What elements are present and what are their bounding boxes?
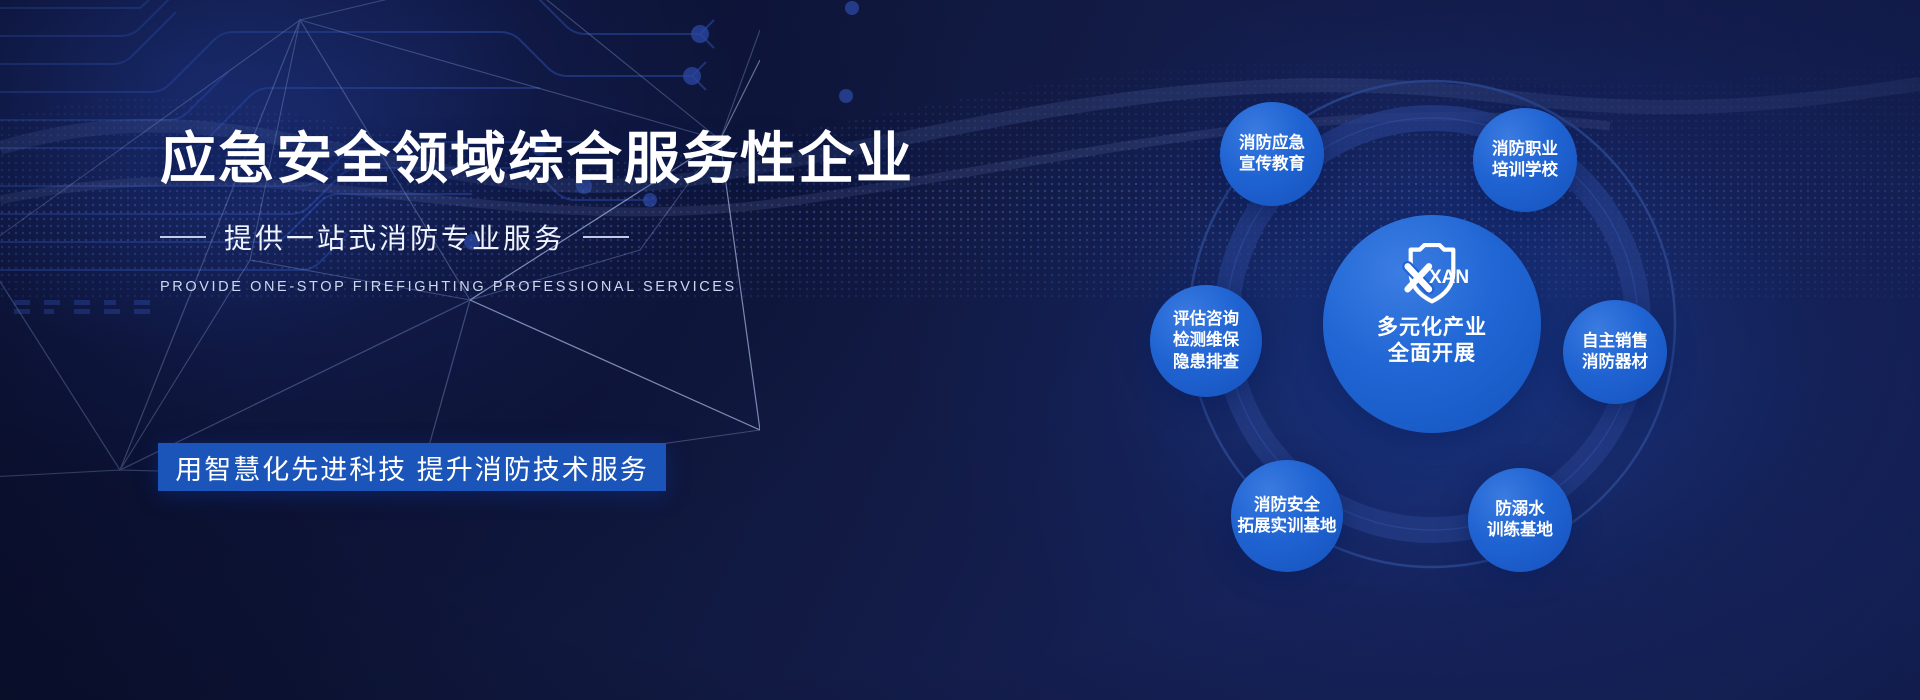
cta-banner-button[interactable]: 用智慧化先进科技 提升消防技术服务: [158, 443, 666, 491]
cta-label: 用智慧化先进科技 提升消防技术服务: [175, 448, 649, 487]
center-label-line1: 多元化产业: [1377, 315, 1487, 341]
node-drowning-prevention-base[interactable]: 防溺水 训练基地: [1468, 468, 1572, 572]
center-node-label: 多元化产业 全面开展: [1377, 315, 1487, 366]
node-line2: 消防器材: [1582, 352, 1648, 373]
hero-banner: 应急安全领域综合服务性企业 提供一站式消防专业服务 PROVIDE ONE-ST…: [0, 0, 1920, 700]
node-line1: 消防安全: [1254, 495, 1320, 516]
shield-logo-icon: XAN: [1393, 239, 1471, 309]
node-line1: 评估咨询: [1173, 309, 1239, 330]
subtitle-row: 提供一站式消防专业服务: [160, 217, 920, 257]
rule-left-icon: [160, 236, 206, 238]
svg-text:XAN: XAN: [1429, 267, 1469, 288]
node-equipment-sales[interactable]: 自主销售 消防器材: [1563, 300, 1667, 404]
node-safety-training-base[interactable]: 消防安全 拓展实训基地: [1231, 460, 1343, 572]
node-vocational-training-school[interactable]: 消防职业 培训学校: [1473, 108, 1577, 212]
hero-copy: 应急安全领域综合服务性企业 提供一站式消防专业服务 PROVIDE ONE-ST…: [160, 128, 920, 295]
subtitle-text: 提供一站式消防专业服务: [224, 217, 565, 257]
page-title: 应急安全领域综合服务性企业: [160, 128, 920, 191]
english-tagline: PROVIDE ONE-STOP FIREFIGHTING PROFESSION…: [160, 279, 920, 295]
node-fire-emergency-education[interactable]: 消防应急 宣传教育: [1220, 102, 1324, 206]
node-line1: 防溺水: [1495, 499, 1545, 520]
node-assessment-inspection[interactable]: 评估咨询 检测维保 隐患排查: [1150, 285, 1262, 397]
rule-right-icon: [583, 236, 629, 238]
services-diagram: XAN 多元化产业 全面开展 消防应急 宣传教育 消防职业 培训学校 评估咨询 …: [1098, 60, 1798, 640]
node-line1: 消防职业: [1492, 139, 1558, 160]
node-line2: 宣传教育: [1239, 154, 1305, 175]
center-node[interactable]: XAN 多元化产业 全面开展: [1323, 215, 1541, 433]
node-line2: 拓展实训基地: [1238, 516, 1337, 537]
center-label-line2: 全面开展: [1377, 341, 1487, 367]
node-line2: 训练基地: [1487, 520, 1553, 541]
node-line3: 隐患排查: [1173, 352, 1239, 373]
node-line1: 消防应急: [1239, 133, 1305, 154]
node-line2: 培训学校: [1492, 160, 1558, 181]
node-line2: 检测维保: [1173, 330, 1239, 351]
node-line1: 自主销售: [1582, 331, 1648, 352]
